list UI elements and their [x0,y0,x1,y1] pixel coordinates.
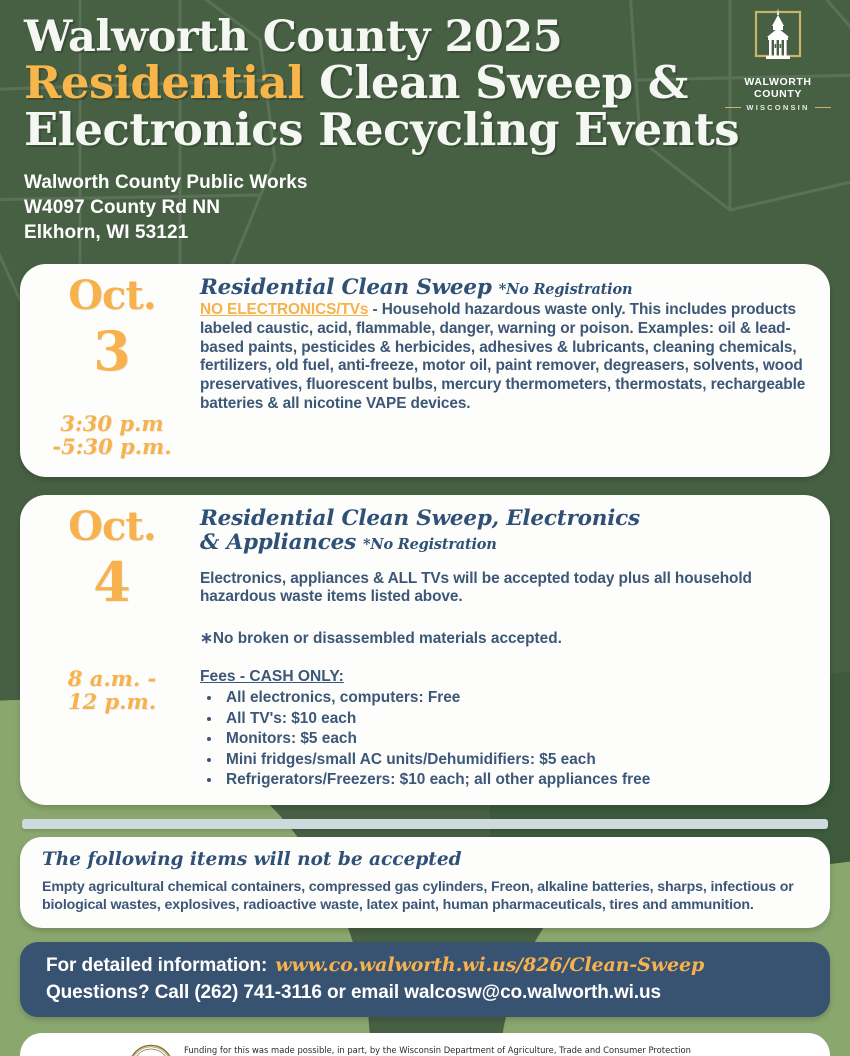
title-line-2: Residential Clean Sweep & [24,61,826,105]
flyer-page: WALWORTH COUNTY WISCONSIN Walworth Count… [0,0,850,1056]
address-line-3: Elkhorn, WI 53121 [24,220,826,245]
event-no-registration-note: *No Registration [363,536,497,553]
event-description: Electronics, appliances & ALL TVs will b… [200,570,808,608]
list-item: Monitors: $5 each [222,729,808,749]
event-time: 3:30 p.m -5:30 p.m. [52,412,171,463]
contact-band: For detailed information:www.co.walworth… [20,942,830,1017]
venue-address: Walworth County Public Works W4097 Count… [24,170,826,245]
event-body-column: Residential Clean Sweep, Electronics & A… [200,495,830,805]
event-heading-text: Residential Clean Sweep [200,275,492,300]
event-heading-line-1: Residential Clean Sweep, Electronics [200,507,808,532]
not-accepted-heading: The following items will not be accepted [42,849,808,870]
footer-band: Funding for this was made possible, in p… [20,1033,830,1056]
list-item: Refrigerators/Freezers: $10 each; all ot… [222,770,808,790]
event-day: 3 [93,324,131,378]
fees-title: Fees - CASH ONLY: [200,668,808,686]
event-month: Oct. [68,507,156,547]
event-date-column: Oct. 4 8 a.m. - 12 p.m. [20,495,200,805]
event-no-registration-note: *No Registration [499,281,633,298]
event-heading-line-2: & Appliances*No Registration [200,531,808,556]
contact-questions-line: Questions? Call (262) 741-3116 or email … [46,982,830,1004]
header: WALWORTH COUNTY WISCONSIN Walworth Count… [0,0,850,246]
list-item: Mini fridges/small AC units/Dehumidifier… [222,750,808,770]
event-heading-line-2-text: & Appliances [200,530,356,555]
footer-disclaimer: Funding for this was made possible, in p… [184,1042,694,1056]
event-heading: Residential Clean Sweep*No Registration [200,276,808,301]
no-electronics-highlight: NO ELECTRONICS/TVs [200,301,368,318]
event-date-column: Oct. 3 3:30 p.m -5:30 p.m. [20,264,200,477]
address-line-1: Walworth County Public Works [24,170,826,195]
event-month: Oct. [68,276,156,316]
title-line-2-rest: Clean Sweep & [319,56,688,109]
section-divider [22,819,828,829]
event-time: 8 a.m. - 12 p.m. [68,667,156,718]
wisconsin-state-seal-icon [128,1044,174,1056]
title-line-1: Walworth County 2025 [24,16,826,58]
fees-list: All electronics, computers: Free All TV'… [222,688,808,790]
list-item: All electronics, computers: Free [222,688,808,708]
contact-label: For detailed information: [46,955,267,976]
event-description: NO ELECTRONICS/TVs - Household hazardous… [200,301,808,414]
title-accent-word: Residential [24,56,304,109]
not-accepted-text: Empty agricultural chemical containers, … [42,878,808,914]
event-day: 4 [93,555,131,609]
event-card-oct3: Oct. 3 3:30 p.m -5:30 p.m. Residential C… [20,264,830,477]
title-line-3: Electronics Recycling Events [24,108,826,152]
contact-info-line: For detailed information:www.co.walworth… [46,954,830,977]
contact-url-link[interactable]: www.co.walworth.wi.us/826/Clean-Sweep [275,954,704,976]
event-card-oct4: Oct. 4 8 a.m. - 12 p.m. Residential Clea… [20,495,830,805]
page-title: Walworth County 2025 Residential Clean S… [24,16,826,152]
event-body-column: Residential Clean Sweep*No Registration … [200,264,830,477]
list-item: All TV's: $10 each [222,709,808,729]
event-condition-note: ∗No broken or disassembled materials acc… [200,629,808,648]
address-line-2: W4097 County Rd NN [24,195,826,220]
not-accepted-card: The following items will not be accepted… [20,837,830,928]
